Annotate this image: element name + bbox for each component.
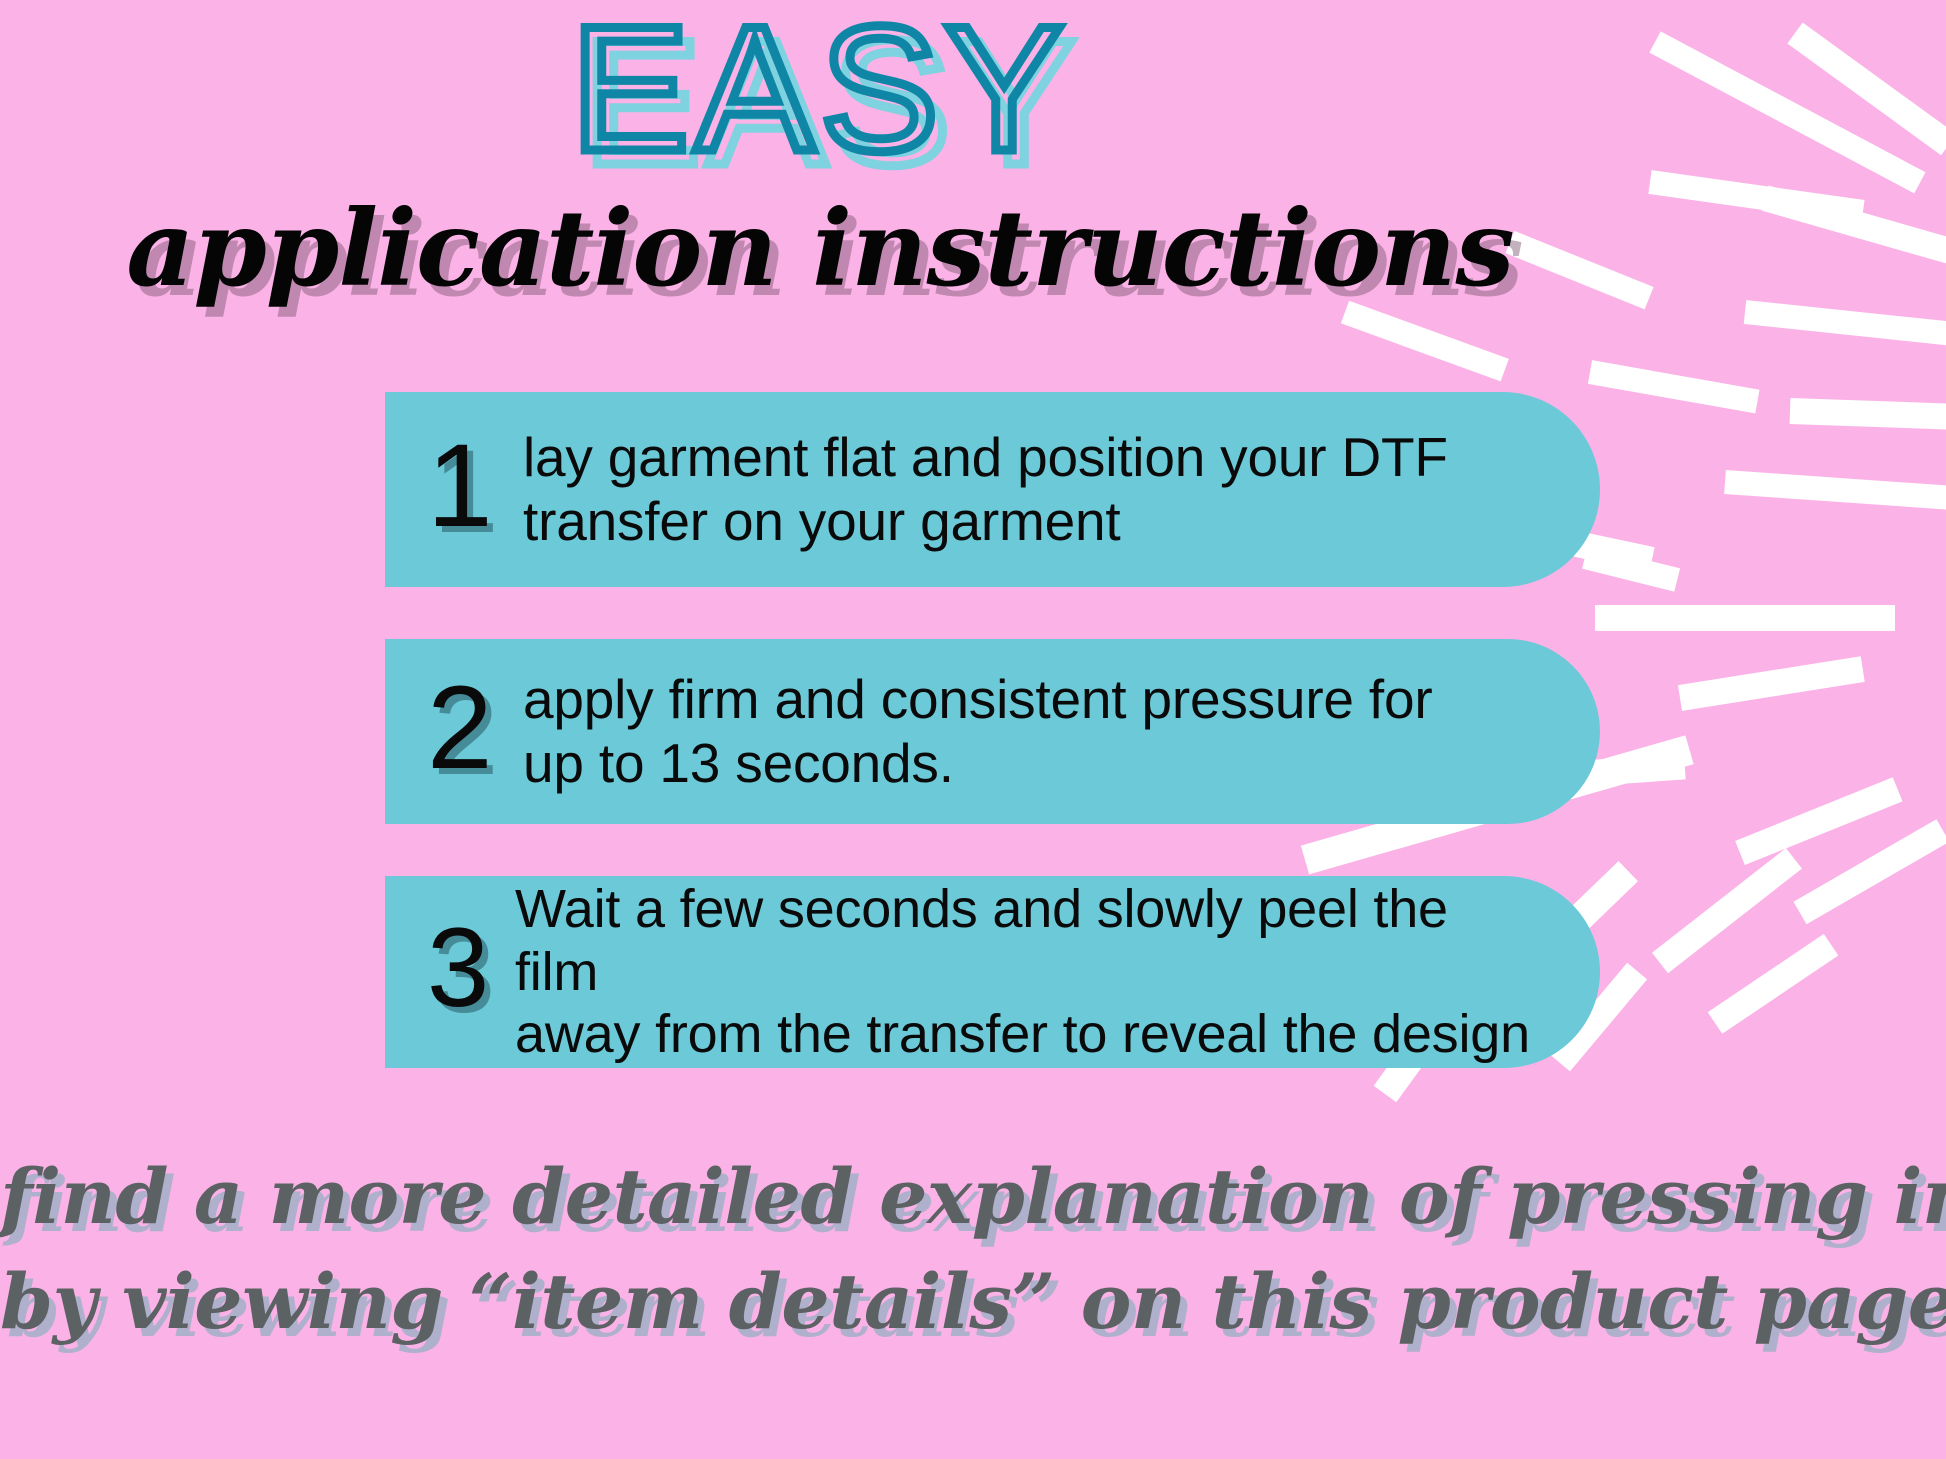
- sunburst-ray: [1790, 398, 1946, 430]
- steps-list: 1 lay garment flat and position your DTF…: [385, 392, 1600, 1068]
- step-item-2: 2 apply firm and consistent pressure for…: [385, 639, 1600, 824]
- sunburst-ray: [1595, 605, 1895, 631]
- easy-title-outline: EASY: [571, 0, 1070, 188]
- sunburst-ray: [1649, 31, 1925, 193]
- step-number-1: 1: [427, 427, 523, 545]
- sunburst-ray: [1341, 301, 1509, 382]
- headline-block: EASY EASY application instructions: [0, 0, 1640, 301]
- sunburst-ray: [1708, 934, 1839, 1034]
- poster-canvas: EASY EASY application instructions 1 lay…: [0, 0, 1946, 1459]
- step-text-3-line-1: Wait a few seconds and slowly peel the f…: [515, 879, 1448, 1002]
- sunburst-ray: [1588, 360, 1760, 413]
- step-text-2-line-2: up to 13 seconds.: [523, 732, 954, 794]
- step-item-3: 3 Wait a few seconds and slowly peel the…: [385, 876, 1600, 1068]
- sunburst-ray: [1648, 170, 1864, 224]
- footnote-block: find a more detailed explanation of pres…: [0, 1145, 1946, 1355]
- sunburst-ray: [1678, 656, 1865, 711]
- sunburst-ray: [1761, 186, 1946, 266]
- script-subtitle: application instructions: [0, 196, 1640, 301]
- sunburst-ray: [1735, 777, 1902, 865]
- sunburst-ray: [1787, 22, 1946, 155]
- step-text-1: lay garment flat and position your DTF t…: [523, 426, 1448, 554]
- step-number-3: 3: [427, 912, 515, 1024]
- step-text-2-line-1: apply firm and consistent pressure for: [523, 668, 1433, 730]
- step-text-1-line-2: transfer on your garment: [523, 490, 1120, 552]
- footnote-line-2: by viewing “item details” on this produc…: [0, 1250, 1946, 1355]
- step-text-3: Wait a few seconds and slowly peel the f…: [515, 878, 1530, 1066]
- step-text-1-line-1: lay garment flat and position your DTF: [523, 426, 1448, 488]
- sunburst-ray: [1724, 470, 1946, 510]
- step-item-1: 1 lay garment flat and position your DTF…: [385, 392, 1600, 587]
- step-text-3-line-2: away from the transfer to reveal the des…: [515, 1004, 1530, 1064]
- sunburst-ray: [1794, 819, 1946, 924]
- step-text-2: apply firm and consistent pressure for u…: [523, 668, 1433, 796]
- sunburst-ray: [1652, 848, 1802, 973]
- sunburst-ray: [1589, 753, 1686, 786]
- easy-title: EASY EASY: [571, 0, 1070, 178]
- sunburst-ray: [1744, 300, 1946, 346]
- footnote-line-1: find a more detailed explanation of pres…: [0, 1145, 1946, 1250]
- step-number-2: 2: [427, 669, 523, 787]
